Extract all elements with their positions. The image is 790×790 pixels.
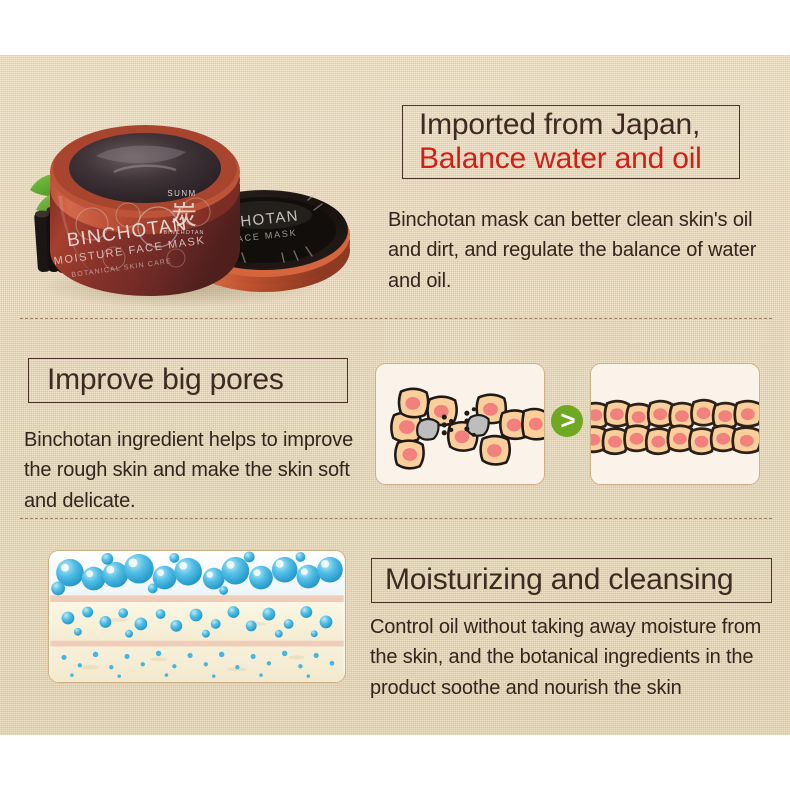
section-body-imported-from-japan: Binchotan mask can better clean skin's o… <box>388 205 768 296</box>
progress-arrow-icon: > <box>551 405 583 437</box>
section-title-imported-from-japan: Imported from Japan, Balance water and o… <box>402 105 740 179</box>
svg-text:炭: 炭 <box>171 201 197 230</box>
divider-line-2 <box>20 518 772 519</box>
svg-text:BINCHOTAN: BINCHOTAN <box>164 230 205 236</box>
section-title-moisturizing-and-cleansing: Moisturizing and cleansing <box>371 558 772 603</box>
illustration-pores-before <box>375 363 545 485</box>
product-jar-photo: CHOTAN FACE MASK <box>18 72 353 312</box>
title-line-2: Balance water and oil <box>419 142 739 176</box>
illustration-moisture-layers <box>48 550 346 683</box>
title-line-1: Moisturizing and cleansing <box>385 563 771 597</box>
product-detail-image: CHOTAN FACE MASK <box>0 0 790 790</box>
section-title-improve-big-pores: Improve big pores <box>28 358 348 403</box>
illustration-pores-after <box>590 363 760 485</box>
title-line-1: Imported from Japan, <box>419 108 739 142</box>
section-body-improve-big-pores: Binchotan ingredient helps to improve th… <box>24 425 354 516</box>
section-body-moisturizing-and-cleansing: Control oil without taking away moisture… <box>370 612 782 703</box>
svg-text:SUNM: SUNM <box>167 189 196 198</box>
divider-line-1 <box>20 318 772 319</box>
chevron-right-icon: > <box>560 407 575 433</box>
title-line-1: Improve big pores <box>47 363 347 397</box>
jar-body: BINCHOTAN MOISTURE FACE MASK BOTANICAL S… <box>50 125 240 296</box>
